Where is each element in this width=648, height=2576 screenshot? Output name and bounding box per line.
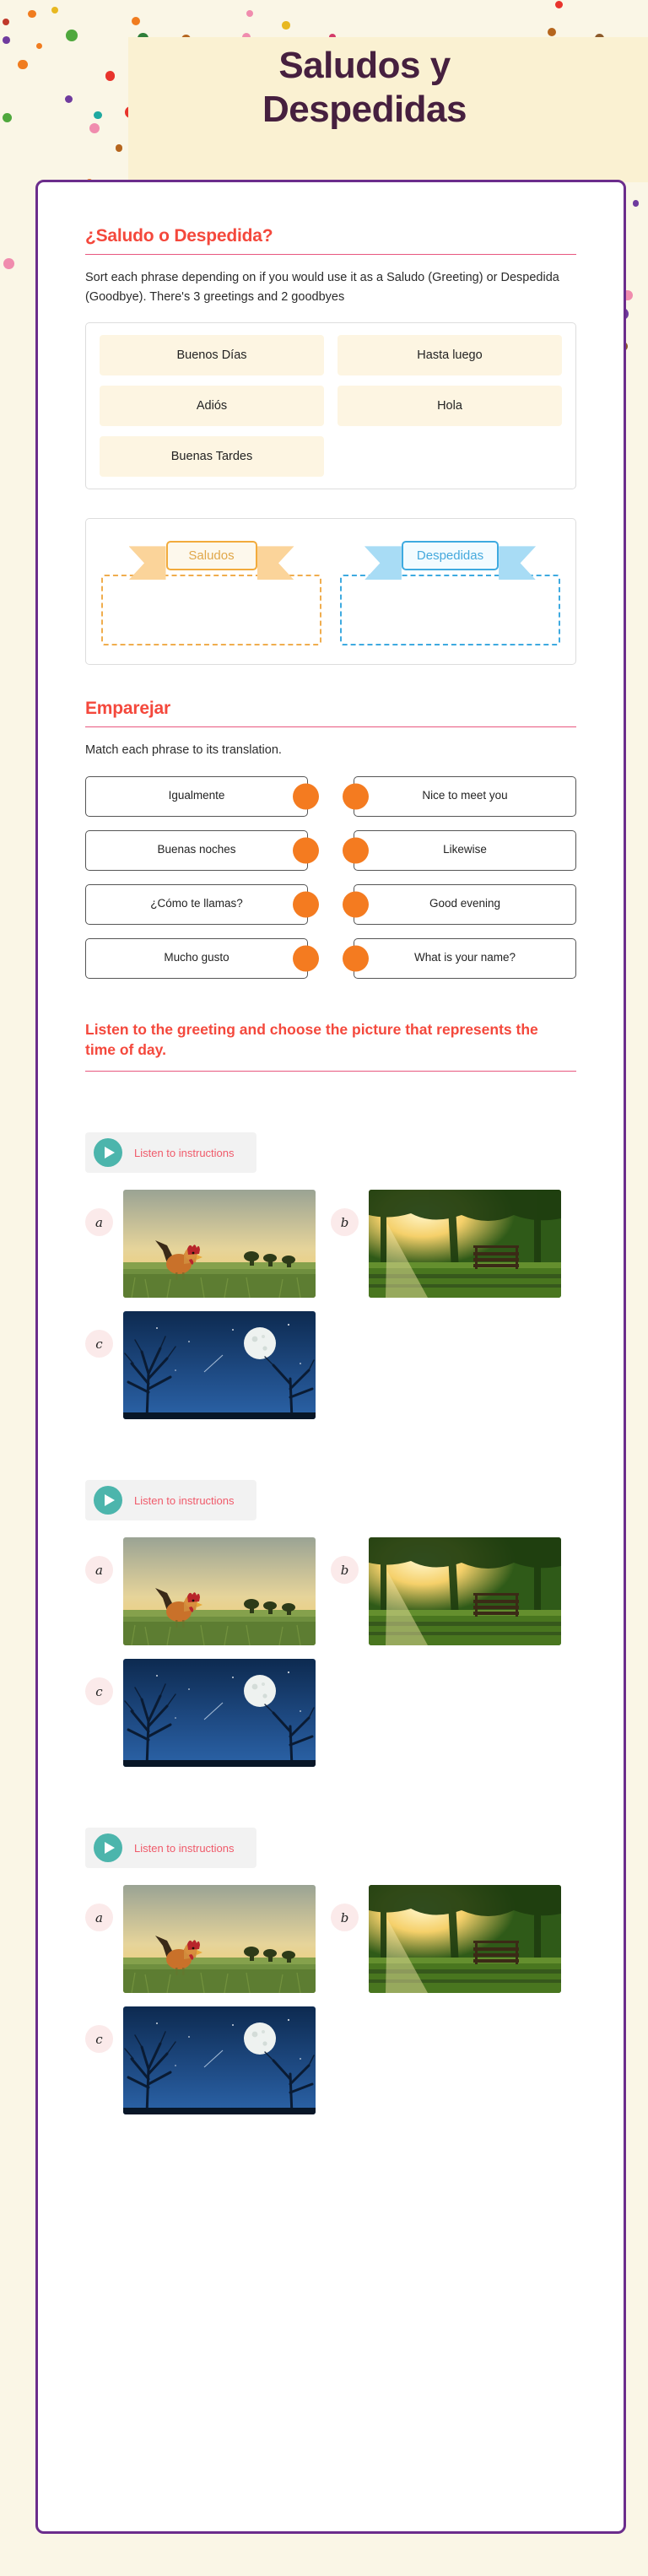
audio-player-label: Listen to instructions xyxy=(134,1147,235,1159)
sort-heading: ¿Saludo o Despedida? xyxy=(85,226,576,246)
confetti-dot xyxy=(65,95,73,104)
match-item-right[interactable]: Good evening xyxy=(354,884,576,925)
confetti-dot xyxy=(633,200,640,207)
word-card[interactable]: Buenas Tardes xyxy=(100,436,324,477)
image-option-grid: a xyxy=(85,1885,576,2114)
match-heading: Emparejar xyxy=(85,699,576,719)
image-option[interactable]: a xyxy=(85,1190,331,1298)
match-item-label: Likewise xyxy=(443,843,487,857)
option-badge[interactable]: b xyxy=(331,1208,359,1236)
sort-heading-rule xyxy=(85,254,576,255)
play-icon[interactable] xyxy=(94,1833,122,1862)
ribbon-tail-left-icon xyxy=(129,546,166,580)
listen-blocks: Listen to instructionsa xyxy=(85,1132,576,2114)
page-title-line-1: Saludos y xyxy=(128,44,601,88)
park-bench-sunlight-image[interactable] xyxy=(369,1537,561,1645)
confetti-dot xyxy=(3,36,10,44)
word-card[interactable]: Hasta luego xyxy=(337,335,562,375)
match-column-left: Igualmente Buenas noches ¿Cómo te llamas… xyxy=(85,776,308,979)
sort-drop-area: Saludos Despedidas xyxy=(85,518,576,665)
confetti-dot xyxy=(3,113,12,122)
match-item-label: Igualmente xyxy=(169,789,225,803)
image-option-grid: a xyxy=(85,1190,576,1419)
image-option[interactable]: b xyxy=(331,1885,576,1993)
option-badge[interactable]: b xyxy=(331,1556,359,1584)
ribbon-label-despedidas: Despedidas xyxy=(402,541,499,570)
confetti-dot xyxy=(36,43,42,49)
match-item-label: Nice to meet you xyxy=(422,789,507,803)
listen-heading: Listen to the greeting and choose the pi… xyxy=(85,1019,558,1061)
confetti-dot xyxy=(282,21,289,29)
confetti-dot xyxy=(51,7,58,14)
sort-instruction: Sort each phrase depending on if you wou… xyxy=(85,268,576,307)
word-card[interactable]: Hola xyxy=(337,386,562,426)
moon-night-tree-image[interactable] xyxy=(123,2006,316,2114)
match-connector-dot[interactable] xyxy=(293,837,319,863)
listen-question-block: Listen to instructionsa xyxy=(85,1828,576,2114)
play-triangle-icon xyxy=(105,1147,115,1158)
image-option[interactable]: a xyxy=(85,1537,331,1645)
ribbon-saludos: Saludos xyxy=(101,541,321,585)
confetti-dot xyxy=(66,30,78,41)
match-item-left[interactable]: ¿Cómo te llamas? xyxy=(85,884,308,925)
match-connector-dot[interactable] xyxy=(343,837,369,863)
image-option[interactable]: c xyxy=(85,1659,331,1767)
rooster-sunrise-field-image[interactable] xyxy=(123,1537,316,1645)
match-item-left[interactable]: Mucho gusto xyxy=(85,938,308,979)
match-item-right[interactable]: Likewise xyxy=(354,830,576,871)
audio-player[interactable]: Listen to instructions xyxy=(85,1480,256,1520)
confetti-dot xyxy=(18,60,27,69)
match-item-label: Good evening xyxy=(429,897,500,911)
match-item-label: Buenas noches xyxy=(157,843,235,857)
rooster-sunrise-field-image[interactable] xyxy=(123,1190,316,1298)
word-card[interactable]: Adiós xyxy=(100,386,324,426)
rooster-sunrise-field-image[interactable] xyxy=(123,1885,316,1993)
match-instruction: Match each phrase to its translation. xyxy=(85,741,576,760)
section-listen: Listen to the greeting and choose the pi… xyxy=(85,1019,576,2115)
confetti-dot xyxy=(555,1,563,8)
audio-player[interactable]: Listen to instructions xyxy=(85,1132,256,1173)
match-item-right[interactable]: Nice to meet you xyxy=(354,776,576,817)
match-connector-dot[interactable] xyxy=(343,945,369,971)
option-badge[interactable]: b xyxy=(331,1904,359,1931)
image-option[interactable]: c xyxy=(85,1311,331,1419)
match-item-label: Mucho gusto xyxy=(164,951,229,965)
match-connector-dot[interactable] xyxy=(343,891,369,917)
moon-night-tree-image[interactable] xyxy=(123,1659,316,1767)
word-bank: Buenos Días Hasta luego Adiós Hola Buena… xyxy=(85,322,576,489)
match-item-label: ¿Cómo te llamas? xyxy=(150,897,243,911)
option-badge[interactable]: c xyxy=(85,1330,113,1358)
listen-question-block: Listen to instructionsa xyxy=(85,1480,576,1767)
match-item-left[interactable]: Igualmente xyxy=(85,776,308,817)
match-connector-dot[interactable] xyxy=(293,891,319,917)
match-heading-rule xyxy=(85,726,576,727)
page-title-line-2: Despedidas xyxy=(128,88,601,132)
confetti-dot xyxy=(246,10,253,17)
image-option[interactable]: b xyxy=(331,1190,576,1298)
play-triangle-icon xyxy=(105,1842,115,1854)
park-bench-sunlight-image[interactable] xyxy=(369,1885,561,1993)
park-bench-sunlight-image[interactable] xyxy=(369,1190,561,1298)
confetti-dot xyxy=(116,144,123,152)
play-icon[interactable] xyxy=(94,1138,122,1167)
match-connector-dot[interactable] xyxy=(293,945,319,971)
confetti-dot xyxy=(3,258,14,269)
section-sort: ¿Saludo o Despedida? Sort each phrase de… xyxy=(85,226,576,665)
audio-player-label: Listen to instructions xyxy=(134,1494,235,1507)
ribbon-tail-left-icon xyxy=(364,546,402,580)
confetti-dot xyxy=(132,17,140,25)
image-option[interactable]: a xyxy=(85,1885,331,1993)
moon-night-tree-image[interactable] xyxy=(123,1311,316,1419)
listen-heading-rule xyxy=(85,1071,576,1072)
match-item-right[interactable]: What is your name? xyxy=(354,938,576,979)
confetti-dot xyxy=(94,111,101,119)
option-badge[interactable]: a xyxy=(85,1556,113,1584)
play-triangle-icon xyxy=(105,1494,115,1506)
audio-player-label: Listen to instructions xyxy=(134,1842,235,1855)
audio-player[interactable]: Listen to instructions xyxy=(85,1828,256,1868)
option-badge[interactable]: c xyxy=(85,1677,113,1705)
listen-question-block: Listen to instructionsa xyxy=(85,1132,576,1419)
match-item-label: What is your name? xyxy=(414,951,516,965)
ribbon-despedidas: Despedidas xyxy=(340,541,560,585)
image-option[interactable]: b xyxy=(331,1537,576,1645)
section-match: Emparejar Match each phrase to its trans… xyxy=(85,699,576,978)
drop-zone-saludos[interactable] xyxy=(101,575,321,645)
image-option-grid: a xyxy=(85,1537,576,1767)
option-badge[interactable]: a xyxy=(85,1208,113,1236)
confetti-dot xyxy=(548,28,556,36)
word-card[interactable]: Buenos Días xyxy=(100,335,324,375)
play-icon[interactable] xyxy=(94,1486,122,1515)
confetti-dot xyxy=(3,19,9,25)
match-connector-dot[interactable] xyxy=(343,783,369,809)
confetti-dot xyxy=(105,71,116,81)
image-option[interactable]: c xyxy=(85,2006,331,2114)
match-item-left[interactable]: Buenas noches xyxy=(85,830,308,871)
ribbon-label-saludos: Saludos xyxy=(166,541,257,570)
page-title: Saludos y Despedidas xyxy=(128,44,601,132)
worksheet-sheet: ¿Saludo o Despedida? Sort each phrase de… xyxy=(35,180,626,2534)
sort-column-despedidas: Despedidas xyxy=(340,541,560,645)
drop-zone-despedidas[interactable] xyxy=(340,575,560,645)
match-grid: Igualmente Buenas noches ¿Cómo te llamas… xyxy=(85,776,576,979)
option-badge[interactable]: a xyxy=(85,1904,113,1931)
match-column-right: Nice to meet you Likewise Good evening W… xyxy=(354,776,576,979)
sort-column-saludos: Saludos xyxy=(101,541,321,645)
confetti-dot xyxy=(28,10,36,19)
ribbon-tail-right-icon xyxy=(257,546,294,580)
option-badge[interactable]: c xyxy=(85,2025,113,2053)
confetti-dot xyxy=(89,123,100,134)
match-connector-dot[interactable] xyxy=(293,783,319,809)
ribbon-tail-right-icon xyxy=(499,546,536,580)
